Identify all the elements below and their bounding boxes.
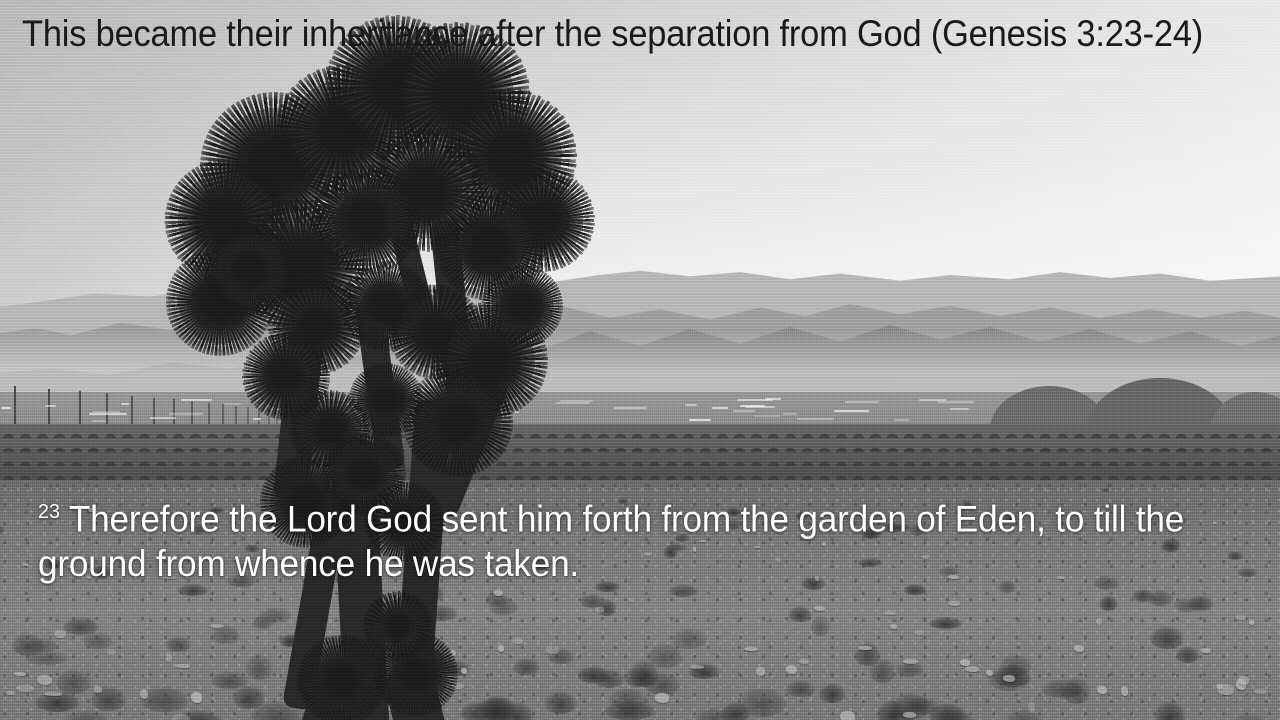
telephone-pole: [79, 391, 81, 424]
desert-rock: [786, 665, 797, 674]
road-glint: [92, 420, 105, 422]
desert-rock: [1238, 676, 1249, 684]
desert-rock: [595, 607, 604, 613]
road-glint: [834, 410, 870, 412]
desert-rock: [1254, 689, 1267, 694]
desert-rock: [172, 714, 190, 720]
desert-rock: [858, 646, 872, 650]
desert-rock: [890, 624, 897, 629]
desert-rock: [54, 630, 66, 638]
desert-bush: [1154, 701, 1187, 720]
road-glint: [950, 408, 968, 410]
desert-rock: [44, 692, 62, 696]
slide: This became their inheritance after the …: [0, 0, 1280, 720]
desert-rock: [948, 601, 960, 606]
desert-rock: [1003, 675, 1015, 682]
road-glint: [712, 407, 728, 409]
road-glint: [754, 415, 780, 417]
desert-rock: [756, 667, 765, 675]
desert-bush: [999, 654, 1033, 676]
background-photo: [0, 0, 1280, 720]
scripture-text: 23 Therefore the Lord God sent him forth…: [38, 489, 1208, 586]
desert-bush: [695, 708, 734, 720]
road-glint: [614, 407, 647, 409]
telephone-pole: [131, 396, 133, 424]
road-glint: [797, 418, 834, 420]
desert-rock: [986, 670, 993, 676]
desert-bush: [1175, 646, 1200, 663]
desert-bush: [1149, 626, 1185, 648]
desert-rock: [175, 664, 189, 668]
desert-rock: [16, 685, 34, 693]
road-glint: [92, 411, 120, 413]
desert-rock: [6, 691, 15, 695]
road-glint: [745, 406, 775, 408]
desert-bush: [869, 658, 896, 683]
desert-bush: [1187, 595, 1214, 611]
telephone-pole: [173, 399, 175, 424]
desert-rock: [1249, 620, 1254, 624]
desert-rock: [1121, 686, 1128, 696]
desert-bush: [24, 650, 68, 666]
desert-bush: [785, 680, 816, 696]
desert-rock: [903, 659, 918, 664]
desert-rock: [690, 665, 704, 669]
desert-bush: [928, 617, 963, 629]
road-glint: [733, 410, 754, 412]
desert-rock: [840, 711, 855, 720]
desert-rock: [1213, 522, 1217, 524]
desert-rock: [799, 659, 809, 664]
telephone-pole: [153, 398, 155, 424]
desert-rock: [903, 712, 916, 718]
road-glint: [1, 407, 11, 409]
desert-rock: [37, 675, 53, 685]
desert-rock: [94, 686, 101, 693]
verse-body: Therefore the Lord God sent him forth fr…: [38, 498, 1184, 584]
verse-number: 23: [38, 500, 60, 523]
desert-bush: [55, 669, 91, 693]
desert-rock: [1096, 618, 1102, 626]
road-glint: [737, 399, 773, 401]
road-glint: [121, 403, 129, 405]
desert-bush: [1099, 595, 1118, 611]
desert-bush: [818, 683, 846, 704]
desert-rock: [165, 653, 172, 662]
tree-leaf-rosette: [246, 336, 327, 417]
desert-rock: [655, 693, 669, 703]
telephone-pole: [106, 393, 108, 424]
desert-rock: [915, 630, 924, 635]
desert-bush: [629, 660, 661, 687]
desert-rock: [1217, 684, 1234, 695]
road-glint: [689, 419, 710, 421]
desert-bush: [62, 617, 100, 635]
desert-rock: [629, 598, 634, 602]
desert-rock: [1200, 648, 1212, 653]
road-glint: [685, 404, 697, 406]
desert-rock: [22, 563, 28, 566]
desert-rock: [140, 689, 148, 699]
desert-rock: [1097, 686, 1107, 695]
tree-leaf-rosette: [367, 595, 429, 657]
road-glint: [150, 417, 177, 419]
desert-rock: [1074, 645, 1084, 652]
desert-rock: [965, 666, 979, 673]
slide-title: This became their inheritance after the …: [22, 12, 1175, 56]
desert-rock: [1028, 702, 1035, 713]
road-glint: [89, 413, 126, 415]
telephone-pole: [14, 386, 16, 424]
tree-leaf-rosette: [305, 643, 380, 718]
desert-bush: [1237, 568, 1258, 577]
desert-bush: [593, 669, 625, 688]
desert-bush: [603, 700, 657, 720]
road-glint: [783, 413, 797, 415]
road-glint: [845, 401, 879, 403]
joshua-tree: [190, 70, 590, 720]
desert-rock: [814, 606, 826, 611]
